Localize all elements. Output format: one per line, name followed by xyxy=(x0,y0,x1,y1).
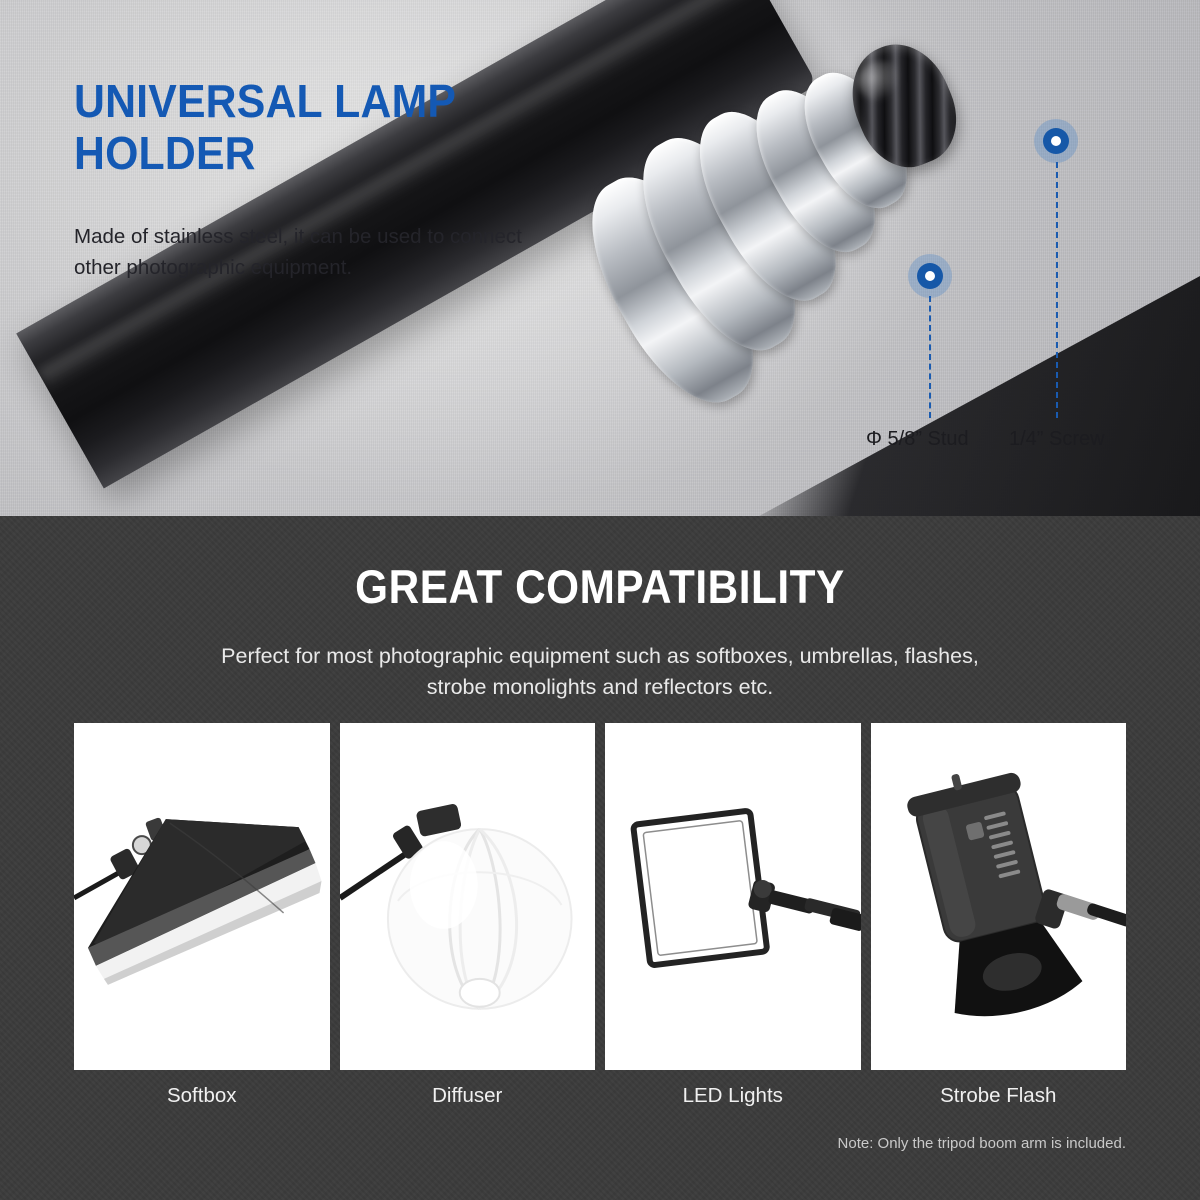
callout-dot-stud xyxy=(908,254,952,298)
compatibility-title: GREAT COMPATIBILITY xyxy=(60,559,1140,614)
infographic-page: UNIVERSAL LAMP HOLDER Made of stainless … xyxy=(0,0,1200,1200)
card-led-lights xyxy=(605,723,861,1070)
hero-section: UNIVERSAL LAMP HOLDER Made of stainless … xyxy=(0,0,1200,516)
callout-label-stud: Φ 5/8” Stud xyxy=(866,428,969,451)
disclaimer-note: Note: Only the tripod boom arm is includ… xyxy=(838,1135,1126,1152)
callout-dot-screw xyxy=(1034,119,1078,163)
compatibility-subtitle: Perfect for most photographic equipment … xyxy=(190,641,1010,703)
strobe-monolight-illustration xyxy=(871,723,1127,1070)
card-label-strobe-flash: Strobe Flash xyxy=(871,1084,1127,1108)
card-label-diffuser: Diffuser xyxy=(340,1084,596,1108)
compatibility-section: GREAT COMPATIBILITY Perfect for most pho… xyxy=(0,516,1200,1200)
callout-label-screw: 1/4” Screw xyxy=(1009,428,1105,451)
callout-leader-stud xyxy=(929,296,931,418)
card-strobe-flash xyxy=(871,723,1127,1070)
compatibility-card-grid xyxy=(74,723,1126,1070)
card-label-led-lights: LED Lights xyxy=(605,1084,861,1108)
softbox-illustration xyxy=(74,723,330,1070)
card-label-softbox: Softbox xyxy=(74,1084,330,1108)
page-title: UNIVERSAL LAMP HOLDER xyxy=(74,76,558,180)
card-label-row: Softbox Diffuser LED Lights Strobe Flash xyxy=(74,1084,1126,1108)
hero-subtitle: Made of stainless steel, it can be used … xyxy=(74,222,544,284)
callout-leader-screw xyxy=(1056,162,1058,418)
card-diffuser xyxy=(340,723,596,1070)
led-panel-illustration xyxy=(605,723,861,1070)
diffuser-ball-illustration xyxy=(340,723,596,1070)
card-softbox xyxy=(74,723,330,1070)
